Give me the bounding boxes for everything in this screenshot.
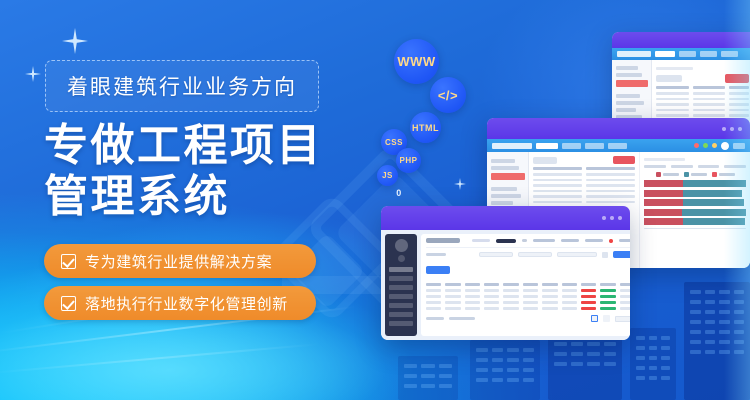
- batch-action[interactable]: [449, 317, 475, 320]
- tech-bubble-www: WWW: [394, 39, 439, 84]
- table-cell: [620, 301, 630, 304]
- building-window: [587, 352, 600, 356]
- table-row[interactable]: [533, 190, 635, 193]
- table-header-cell: [484, 283, 499, 286]
- table-cell: [600, 295, 615, 298]
- table-header-cell: [523, 283, 538, 286]
- table-header-cell: [426, 283, 441, 286]
- table-header-cell: [562, 283, 577, 286]
- building-window: [636, 376, 645, 380]
- filter-field[interactable]: [518, 252, 552, 257]
- building-window: [705, 330, 716, 334]
- building-window: [719, 300, 730, 304]
- chart-legend-item[interactable]: [712, 172, 735, 177]
- building-window: [690, 330, 701, 334]
- legend-swatch: [684, 172, 689, 177]
- dashboard-middle-logo: [492, 143, 532, 149]
- page-title-label: [426, 238, 460, 243]
- filter-field[interactable]: [557, 252, 597, 257]
- building-window: [734, 350, 745, 354]
- building-window: [554, 342, 567, 346]
- building-window: [661, 346, 670, 350]
- table-cell: [465, 307, 480, 310]
- legend-swatch: [712, 172, 717, 177]
- building-window: [690, 300, 701, 304]
- table-row[interactable]: [656, 103, 749, 106]
- table-cell: [523, 295, 538, 298]
- building-window: [439, 364, 452, 368]
- building-window: [636, 356, 645, 360]
- building-window: [734, 330, 745, 334]
- chart-bar-row: [644, 190, 746, 197]
- sidebar-item[interactable]: [389, 303, 413, 308]
- table-row[interactable]: [533, 195, 635, 198]
- table-cell: [562, 301, 577, 304]
- sidebar-item[interactable]: [491, 159, 515, 163]
- building-window: [705, 310, 716, 314]
- window-dot[interactable]: [738, 127, 742, 131]
- table-row[interactable]: [426, 307, 630, 310]
- table-cell: [426, 295, 441, 298]
- headline-line-2: 管理系统: [44, 171, 374, 222]
- chart-legend-item[interactable]: [656, 172, 679, 177]
- building-window: [604, 352, 617, 356]
- table-cell: [445, 295, 460, 298]
- building-silhouette: [684, 282, 750, 400]
- dashboard-middle-tab-3[interactable]: [585, 143, 604, 149]
- window-dot[interactable]: [602, 216, 606, 220]
- building-window: [587, 342, 600, 346]
- table-header-cell: [465, 283, 480, 286]
- dashboard-front-sidebar[interactable]: [385, 234, 417, 336]
- sidebar-item[interactable]: [491, 166, 519, 170]
- table-row[interactable]: [656, 92, 749, 95]
- filter-row: [656, 67, 693, 70]
- headline-line-1: 专做工程项目: [44, 120, 374, 171]
- table-cell: [503, 307, 518, 310]
- chart-bar-row: [644, 199, 746, 206]
- table-cell: [484, 295, 499, 298]
- table-cell: [523, 307, 538, 310]
- table-cell: [426, 307, 441, 310]
- table-row[interactable]: [656, 114, 749, 117]
- building-window: [719, 320, 730, 324]
- table-cell: [581, 295, 596, 298]
- page-title: 专做工程项目 管理系统: [44, 120, 374, 222]
- page-size-select[interactable]: [615, 316, 630, 322]
- dashboard-middle-chart-panel: [639, 152, 750, 268]
- collapse-icon[interactable]: [398, 255, 405, 262]
- building-window: [421, 374, 434, 378]
- table-header: [426, 283, 630, 286]
- table-cell: [523, 301, 538, 304]
- table-row[interactable]: [533, 173, 635, 176]
- table-header-cell: [581, 283, 596, 286]
- building-window: [439, 384, 452, 388]
- checkbox-checked-icon: [61, 254, 76, 269]
- building-window: [705, 290, 716, 294]
- chart-bar-row: [644, 218, 746, 225]
- building-window: [421, 384, 434, 388]
- building-window: [404, 374, 417, 378]
- table-cell: [581, 307, 596, 310]
- sidebar-item-active[interactable]: [389, 267, 413, 272]
- building-window: [719, 330, 730, 334]
- checkbox-checked-icon: [61, 296, 76, 311]
- building-window: [649, 356, 658, 360]
- building-silhouette: [470, 340, 540, 400]
- tech-bubble-html: HTML: [410, 112, 441, 143]
- table-header-cell: [503, 283, 518, 286]
- sparkle-icon: [25, 66, 41, 82]
- building-window: [604, 342, 617, 346]
- breadcrumb: [472, 239, 490, 242]
- building-window: [476, 358, 488, 362]
- light-streak-2: [0, 343, 319, 374]
- subtitle-text: 着眼建筑行业业务方向: [67, 71, 297, 101]
- window-title-bar: [487, 118, 750, 139]
- building-window: [734, 320, 745, 324]
- app-logo-icon: [395, 239, 408, 252]
- chart-bar-row: [644, 180, 746, 187]
- building-window: [523, 378, 535, 382]
- window-title-bar: [612, 32, 750, 48]
- action-button-red[interactable]: [725, 74, 749, 83]
- building-window: [554, 362, 567, 366]
- building-window: [439, 374, 452, 378]
- table-cell: [620, 289, 630, 292]
- dashboard-middle-tab-1[interactable]: [536, 143, 558, 149]
- building-window: [719, 350, 730, 354]
- table-cell: [465, 301, 480, 304]
- chart-bar-segment: [683, 190, 742, 197]
- dashboard-middle-table: [533, 167, 635, 203]
- table-cell: [620, 295, 630, 298]
- sidebar-item[interactable]: [389, 294, 413, 299]
- table-cell: [562, 307, 577, 310]
- dashboard-back-tab-4[interactable]: [721, 51, 738, 57]
- tech-bubble-php: PHP: [396, 148, 421, 173]
- table-cell: [503, 301, 518, 304]
- building-window: [476, 348, 488, 352]
- building-window: [404, 384, 417, 388]
- table-header-cell: [542, 283, 557, 286]
- building-window: [492, 348, 504, 352]
- building-window: [507, 348, 519, 352]
- table-cell: [542, 301, 557, 304]
- sparkle-icon: [62, 28, 88, 54]
- table-row[interactable]: [533, 184, 635, 187]
- table-cell: [542, 295, 557, 298]
- sidebar-item-active[interactable]: [491, 173, 525, 180]
- breadcrumb-current: [496, 239, 516, 243]
- status-icon[interactable]: [703, 143, 708, 148]
- sidebar-item[interactable]: [389, 321, 413, 326]
- toolbar-item[interactable]: [533, 239, 555, 242]
- dashboard-back-topnav[interactable]: [612, 48, 750, 60]
- building-window: [649, 336, 658, 340]
- building-window: [523, 358, 535, 362]
- table-cell: [600, 289, 615, 292]
- building-window: [523, 348, 535, 352]
- building-window: [661, 356, 670, 360]
- field-label: [533, 157, 557, 164]
- table-cell: [600, 307, 615, 310]
- dashboard-middle-topnav[interactable]: [487, 139, 750, 152]
- more-filters-icon[interactable]: [602, 252, 608, 258]
- sidebar-item[interactable]: [616, 94, 640, 98]
- user-name-label: [733, 143, 745, 149]
- user-menu[interactable]: [619, 239, 630, 242]
- dashboard-middle-tab-2[interactable]: [562, 143, 581, 149]
- sidebar-item[interactable]: [491, 201, 513, 205]
- table-cell: [581, 289, 596, 292]
- sparkle-icon: [454, 178, 466, 190]
- table-cell: [445, 301, 460, 304]
- legend-label: [691, 173, 707, 176]
- building-window: [734, 310, 745, 314]
- sidebar-item[interactable]: [389, 285, 413, 290]
- batch-action[interactable]: [426, 317, 444, 320]
- building-window: [636, 336, 645, 340]
- window-dot[interactable]: [610, 216, 614, 220]
- notification-icon[interactable]: [609, 239, 613, 243]
- table-cell: [484, 301, 499, 304]
- building-window: [476, 378, 488, 382]
- building-silhouette: [630, 328, 676, 400]
- chart-bar-segment: [644, 209, 682, 216]
- feature-pill-1[interactable]: 专为建筑行业提供解决方案: [44, 244, 316, 278]
- sidebar-item[interactable]: [616, 73, 642, 77]
- action-button-red[interactable]: [613, 156, 635, 164]
- tech-bubble-js: JS: [377, 165, 398, 186]
- table-cell: [503, 289, 518, 292]
- building-window: [636, 366, 645, 370]
- feature-pill-2[interactable]: 落地执行行业数字化管理创新: [44, 286, 316, 320]
- table-row[interactable]: [533, 201, 635, 204]
- add-button[interactable]: [426, 266, 450, 274]
- breadcrumb-divider: [426, 247, 630, 248]
- building-window: [571, 362, 584, 366]
- table-cell: [600, 301, 615, 304]
- table-cell: [426, 289, 441, 292]
- building-window: [705, 320, 716, 324]
- window-dot[interactable]: [722, 127, 726, 131]
- pagination-next[interactable]: [603, 315, 610, 322]
- chart-x-axis: [644, 228, 746, 229]
- table-row[interactable]: [426, 295, 630, 298]
- building-window: [492, 368, 504, 372]
- building-window: [690, 310, 701, 314]
- building-window: [734, 290, 745, 294]
- table-cell: [465, 295, 480, 298]
- chart-bar-segment: [644, 190, 683, 197]
- table-cell: [484, 289, 499, 292]
- dashboard-front[interactable]: [381, 206, 630, 340]
- sidebar-item[interactable]: [616, 66, 638, 70]
- building-window: [705, 350, 716, 354]
- feature-pill-2-label: 落地执行行业数字化管理创新: [85, 293, 288, 314]
- chevron-down-icon[interactable]: [522, 239, 527, 242]
- sidebar-item[interactable]: [389, 276, 413, 281]
- sidebar-item[interactable]: [491, 187, 517, 191]
- chart-bar-segment: [683, 199, 744, 206]
- table-row[interactable]: [426, 301, 630, 304]
- building-window: [690, 290, 701, 294]
- building-window: [705, 300, 716, 304]
- dashboard-back-logo: [617, 51, 651, 57]
- building-window: [523, 368, 535, 372]
- pagination-page[interactable]: [591, 315, 598, 322]
- sidebar-item[interactable]: [491, 194, 521, 198]
- table-header-cell: [445, 283, 460, 286]
- toolbar-item[interactable]: [561, 239, 579, 242]
- building-window: [661, 366, 670, 370]
- building-window: [476, 368, 488, 372]
- chart-bar-segment: [683, 180, 746, 187]
- building-window: [571, 342, 584, 346]
- table-cell: [465, 289, 480, 292]
- chart-bar-segment: [644, 218, 683, 225]
- building-window: [507, 378, 519, 382]
- tech-bubble-0: 0: [391, 185, 407, 201]
- banner-canvas: 着眼建筑行业业务方向 专做工程项目 管理系统 专为建筑行业提供解决方案 落地执行…: [0, 0, 750, 400]
- table-row[interactable]: [656, 98, 749, 101]
- chart-panel-title: [644, 158, 685, 161]
- alert-icon[interactable]: [694, 143, 699, 148]
- building-window: [661, 336, 670, 340]
- table-header: [656, 86, 749, 89]
- field-label: [656, 75, 682, 82]
- building-window: [404, 364, 417, 368]
- building-window: [649, 376, 658, 380]
- building-window: [507, 368, 519, 372]
- sidebar-item[interactable]: [616, 101, 644, 105]
- building-window: [554, 352, 567, 356]
- building-window: [719, 290, 730, 294]
- building-window: [719, 340, 730, 344]
- dashboard-middle-tab-4[interactable]: [608, 143, 627, 149]
- table-row[interactable]: [656, 109, 749, 112]
- table-cell: [620, 307, 630, 310]
- window-title-bar: [381, 206, 630, 230]
- building-window: [604, 362, 617, 366]
- building-window: [587, 362, 600, 366]
- chart-plot-area: [644, 180, 746, 225]
- building-window: [661, 376, 670, 380]
- window-dot[interactable]: [730, 127, 734, 131]
- building-window: [492, 378, 504, 382]
- building-window: [421, 364, 434, 368]
- building-window: [492, 358, 504, 362]
- building-window: [636, 346, 645, 350]
- table-cell: [581, 301, 596, 304]
- chart-bar-segment: [683, 218, 745, 225]
- chart-bar-segment: [682, 209, 746, 216]
- dashboard-front-table: [426, 283, 630, 310]
- building-window: [690, 340, 701, 344]
- window-dot[interactable]: [618, 216, 622, 220]
- subtitle-badge: 着眼建筑行业业务方向: [45, 60, 319, 112]
- table-header: [533, 167, 635, 170]
- legend-swatch: [656, 172, 661, 177]
- building-window: [705, 340, 716, 344]
- building-window: [734, 340, 745, 344]
- dashboard-front-content: [421, 234, 630, 336]
- building-window: [690, 350, 701, 354]
- table-cell: [542, 289, 557, 292]
- table-cell: [426, 301, 441, 304]
- building-window: [571, 352, 584, 356]
- table-header-cell: [620, 283, 630, 286]
- table-cell: [445, 289, 460, 292]
- building-window: [649, 346, 658, 350]
- chart-legend-item[interactable]: [684, 172, 707, 177]
- chart-bar-segment: [644, 180, 683, 187]
- table-cell: [445, 307, 460, 310]
- table-cell: [562, 289, 577, 292]
- chart-bar-segment: [644, 199, 683, 206]
- table-cell: [523, 289, 538, 292]
- chart-bar-row: [644, 209, 746, 216]
- sidebar-item-active[interactable]: [616, 80, 648, 87]
- chart-filter-row: [644, 165, 746, 168]
- chart-legend: [644, 172, 746, 177]
- filter-field[interactable]: [479, 252, 513, 257]
- search-button-blue[interactable]: [613, 251, 630, 258]
- dashboard-back-tab-2[interactable]: [679, 51, 696, 57]
- legend-label: [663, 173, 679, 176]
- dashboard-back-tab-3[interactable]: [700, 51, 717, 57]
- table-header-cell: [600, 283, 615, 286]
- building-window: [690, 320, 701, 324]
- table-cell: [503, 295, 518, 298]
- table-cell: [542, 307, 557, 310]
- avatar[interactable]: [721, 142, 729, 150]
- building-window: [719, 310, 730, 314]
- building-window: [507, 358, 519, 362]
- table-row[interactable]: [533, 179, 635, 182]
- sidebar-item[interactable]: [389, 312, 413, 317]
- legend-label: [719, 173, 735, 176]
- tech-bubble-: </>: [430, 77, 466, 113]
- mail-icon[interactable]: [712, 143, 717, 148]
- building-window: [649, 366, 658, 370]
- toolbar-item[interactable]: [585, 239, 603, 242]
- building-window: [734, 300, 745, 304]
- building-silhouette: [398, 356, 458, 400]
- table-cell: [484, 307, 499, 310]
- table-cell: [562, 295, 577, 298]
- feature-pill-1-label: 专为建筑行业提供解决方案: [85, 251, 272, 272]
- table-row[interactable]: [426, 289, 630, 292]
- dashboard-back-tab-1[interactable]: [655, 51, 675, 57]
- sidebar-item[interactable]: [616, 108, 636, 112]
- filter-label: [426, 253, 446, 256]
